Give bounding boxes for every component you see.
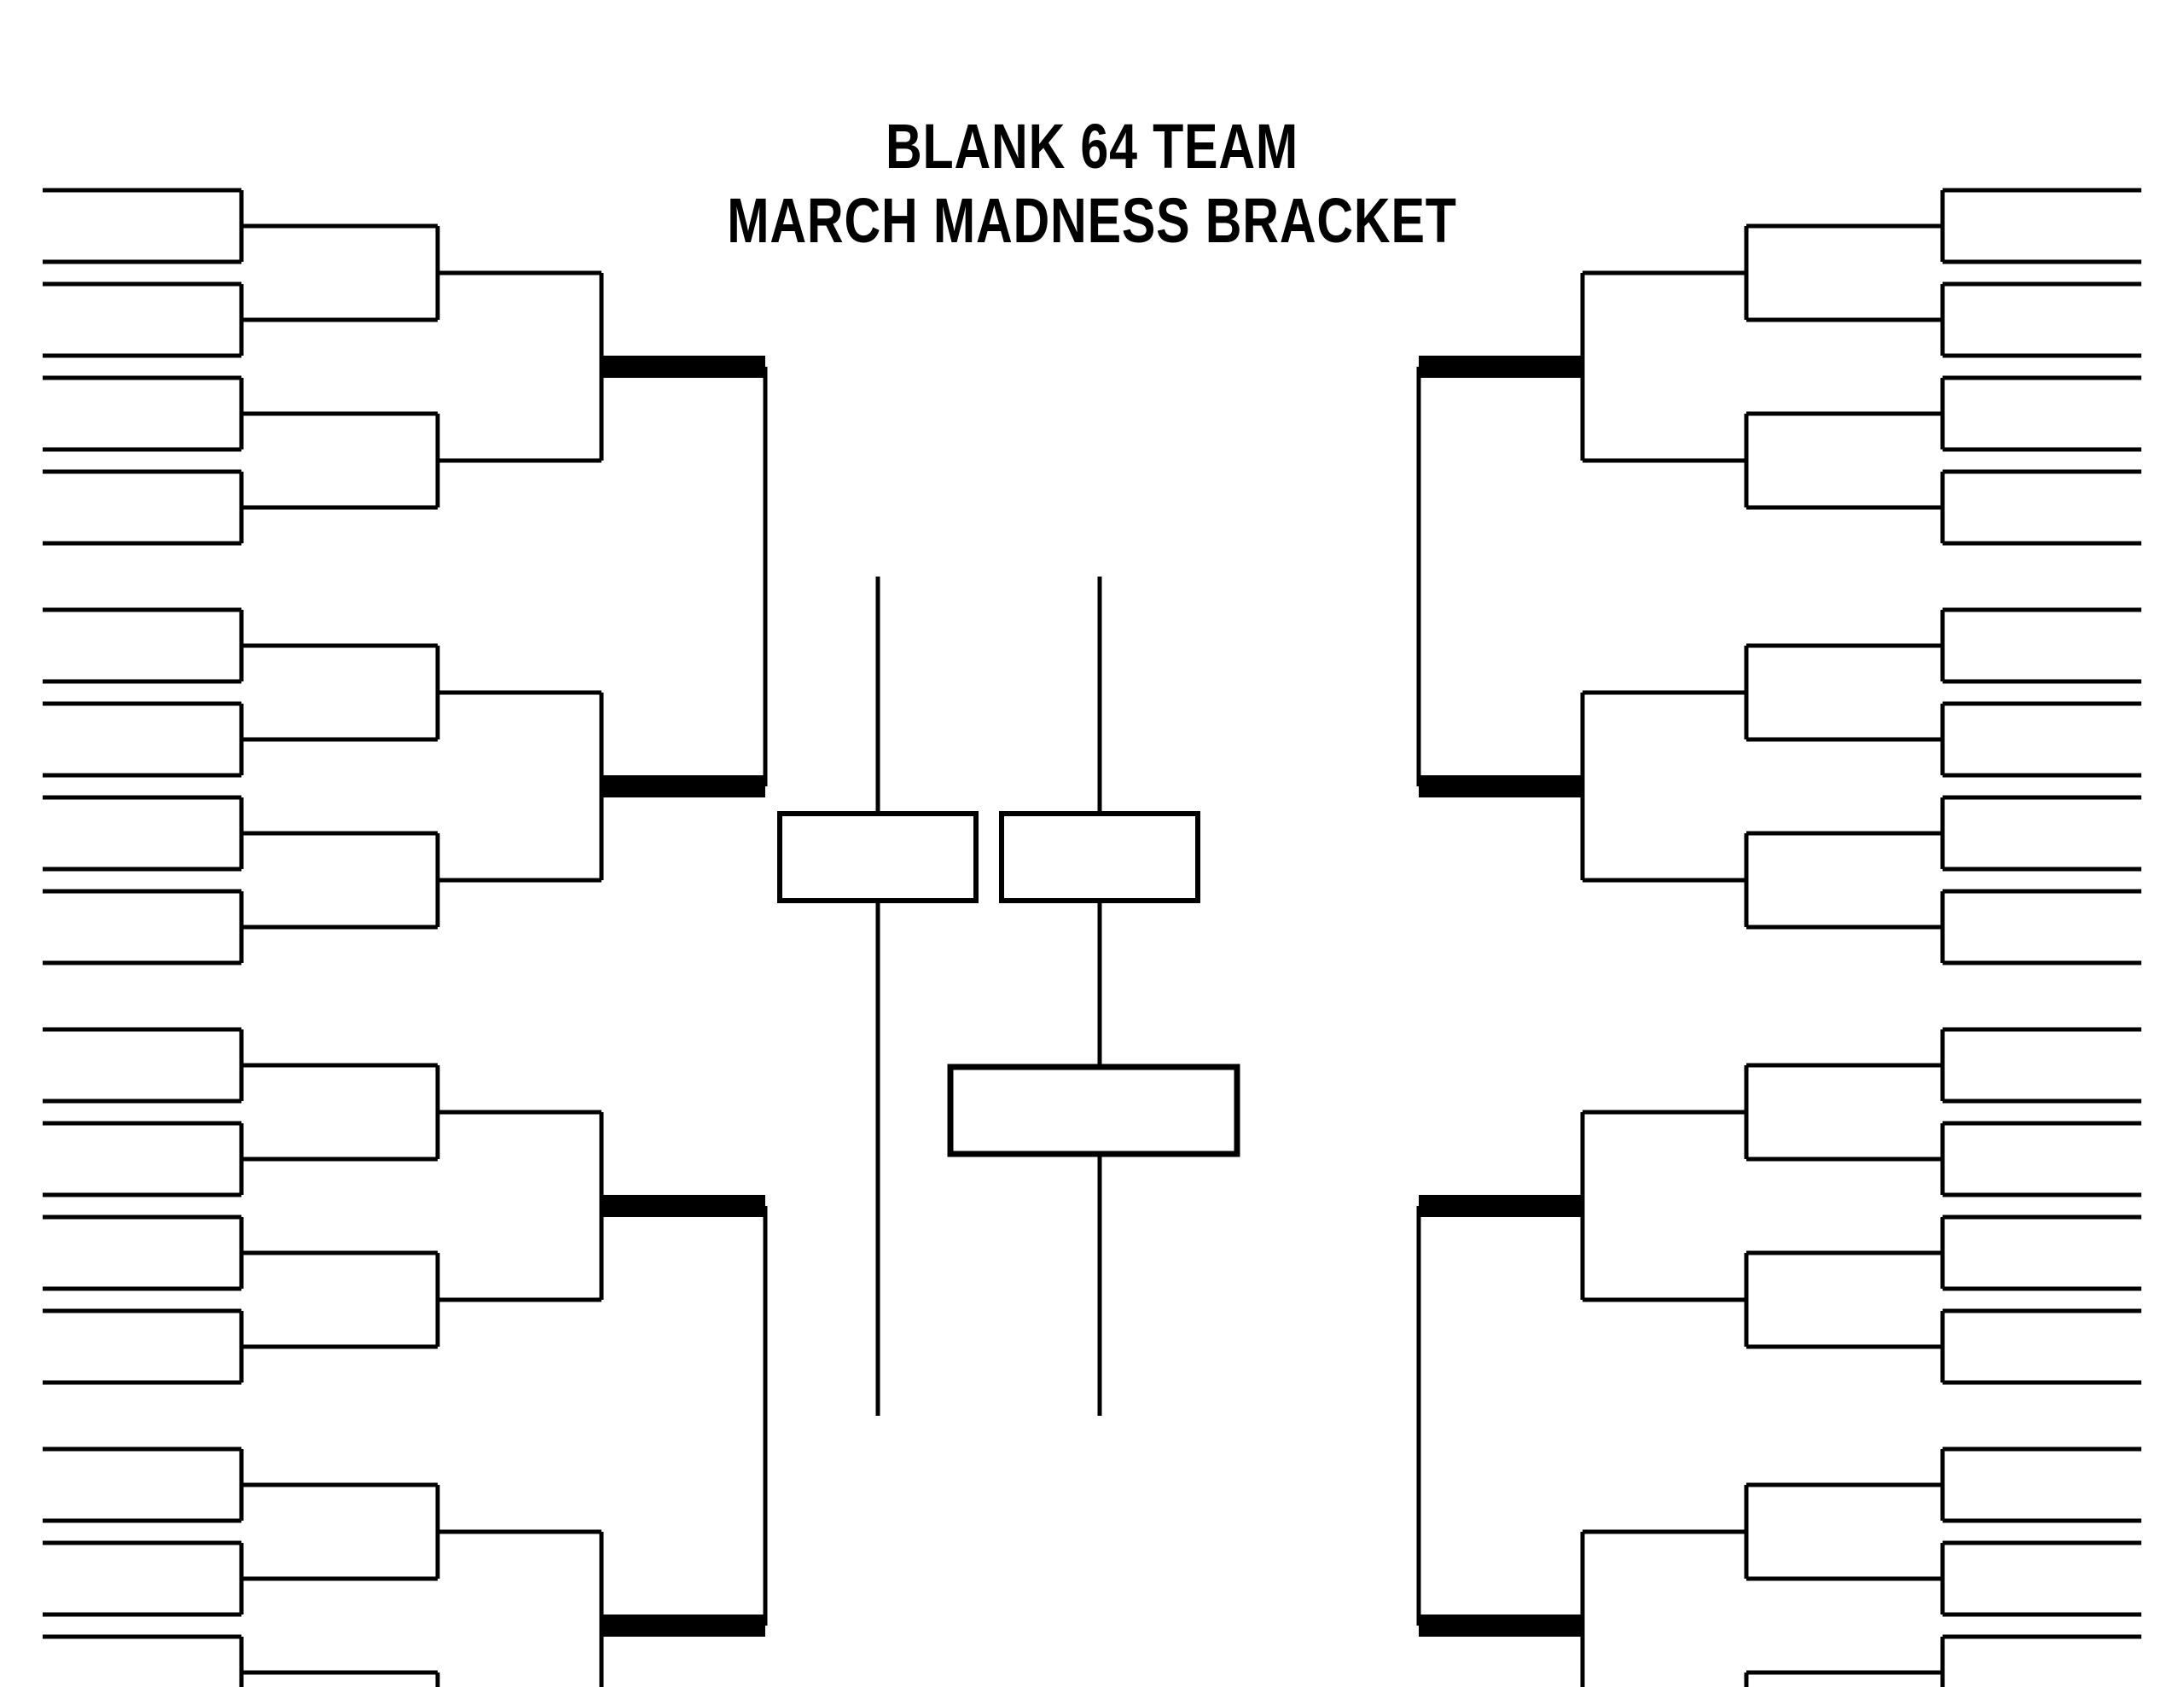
bracket-final-boxes xyxy=(780,814,1237,1154)
champion-box[interactable] xyxy=(950,1067,1237,1154)
bracket-diagram xyxy=(0,0,2184,1687)
final-four-box-right[interactable] xyxy=(1002,814,1198,901)
bracket-lines xyxy=(43,190,2141,1687)
bracket-page: BLANK 64 TEAM MARCH MADNESS BRACKET xyxy=(0,0,2184,1687)
final-four-box-left[interactable] xyxy=(780,814,976,901)
